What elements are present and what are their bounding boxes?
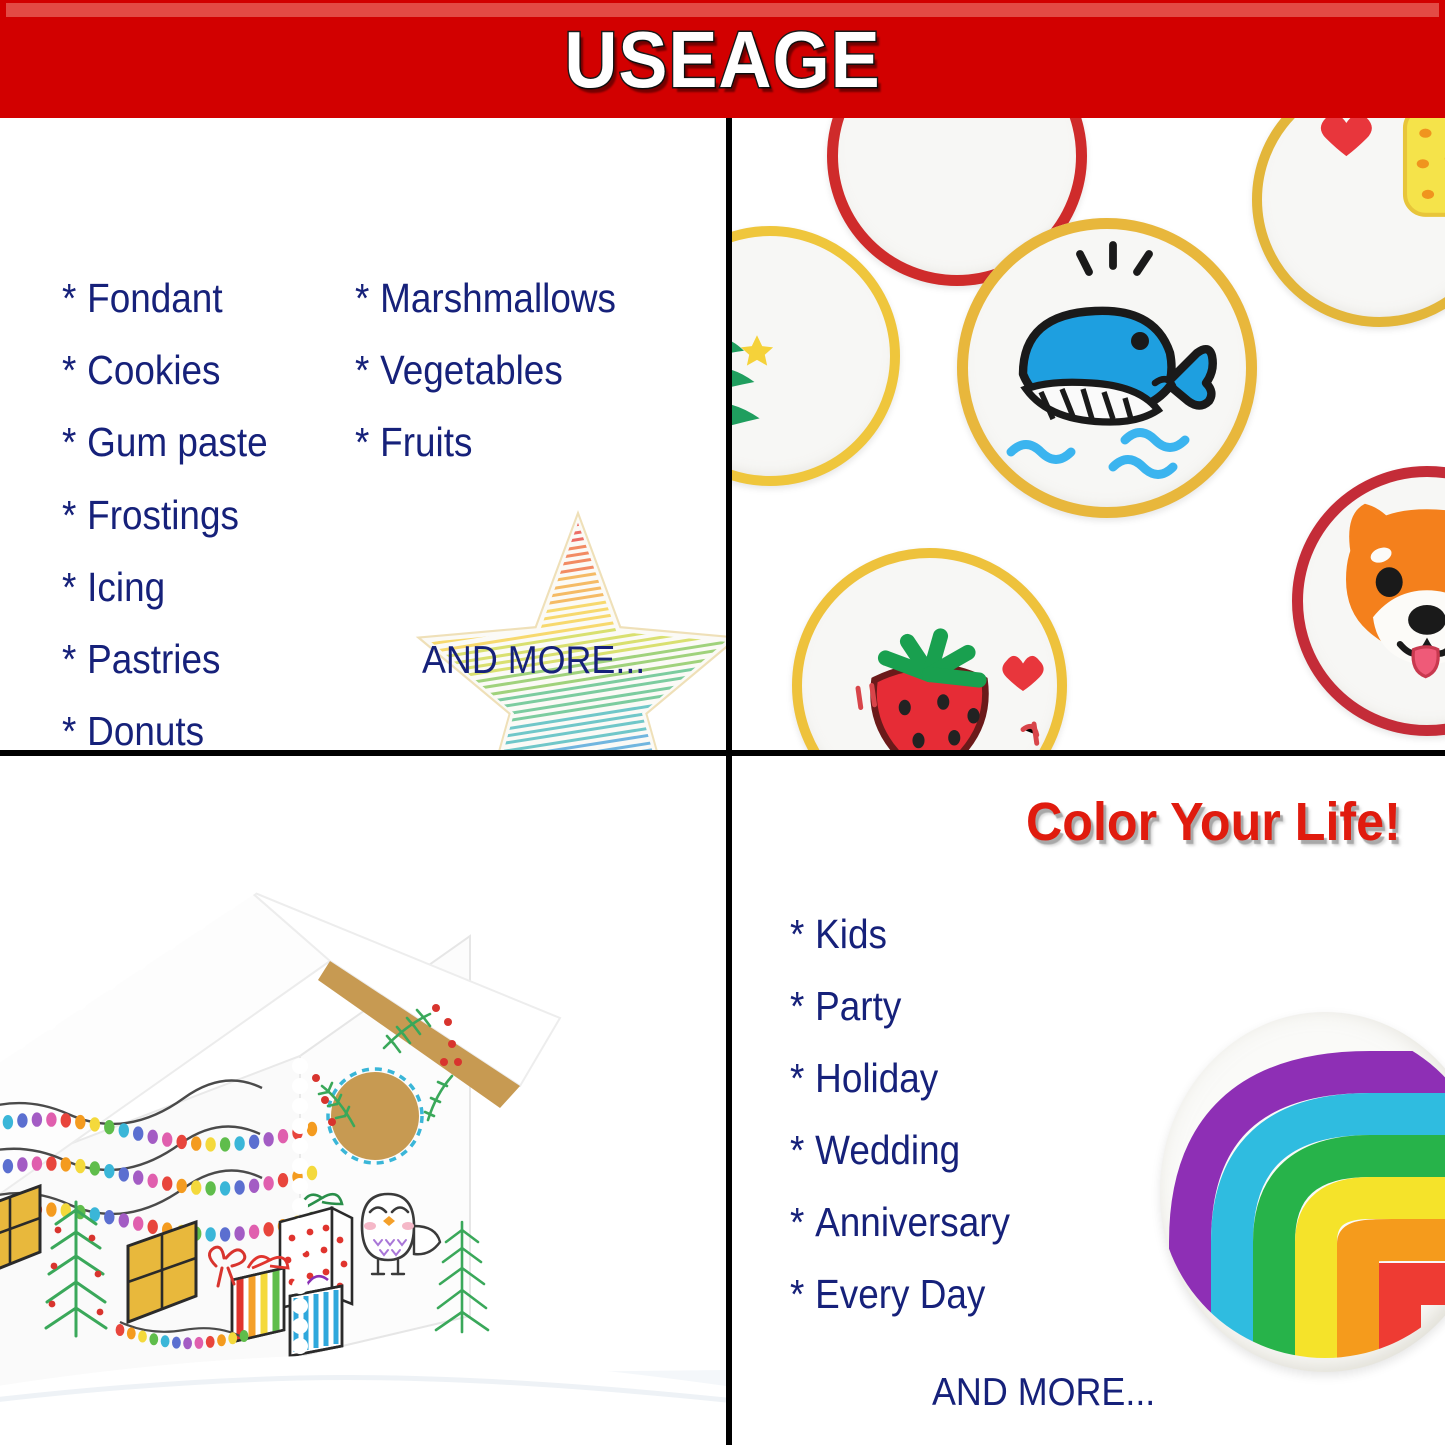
roof-light-bulb <box>148 1220 158 1234</box>
roof-light-bulb <box>220 1137 230 1151</box>
roof-light-bulb <box>263 1176 273 1190</box>
corner-icing-bead <box>292 1058 308 1354</box>
star-stripe <box>388 686 726 749</box>
list-item: *Frostings <box>62 493 239 537</box>
star-stripe <box>388 508 726 571</box>
roof-light-bulb <box>104 1120 114 1134</box>
roof-light-bulb <box>32 1112 42 1126</box>
panel-decorated-cookies: H <box>732 118 1445 750</box>
roof-light-bulb <box>191 1136 201 1150</box>
roof-light-bulb <box>205 1137 215 1151</box>
side-light-bulb <box>206 1336 215 1348</box>
usage-infographic: USEAGE *Fondant *Cookies *Gum paste *Fro… <box>0 0 1445 1445</box>
bullet-star: * <box>355 419 369 465</box>
roof-light-bulb <box>234 1136 244 1150</box>
bullet-star: * <box>62 347 76 393</box>
side-light-bulb <box>217 1334 226 1346</box>
list-item: *Gum paste <box>62 420 268 464</box>
roof-light-bulb <box>90 1161 100 1175</box>
bullet-star: * <box>790 983 804 1029</box>
roof-light-bulb <box>177 1135 187 1149</box>
bullet-star: * <box>62 636 76 682</box>
roof-light-bulb <box>191 1180 201 1194</box>
cookie-motif-whale <box>957 218 1257 518</box>
roof-light-bulb <box>278 1129 288 1143</box>
bullet-star: * <box>62 419 76 465</box>
bullet-star: * <box>62 708 76 750</box>
roof-light-bulb <box>46 1156 56 1170</box>
roof-light-bulb <box>119 1167 129 1181</box>
star-stripe <box>388 501 726 564</box>
side-light-bulb <box>149 1333 158 1345</box>
list-item-label: Fondant <box>87 275 222 321</box>
side-light-bulb <box>161 1335 170 1347</box>
roof-light-bulb <box>75 1159 85 1173</box>
roof-light-bulb <box>307 1122 317 1136</box>
star-stripe <box>388 530 726 593</box>
cookie-pineapple <box>1252 118 1445 327</box>
bullet-star: * <box>355 275 369 321</box>
roof-light-bulb <box>104 1164 114 1178</box>
list-item: *Kids <box>790 912 887 956</box>
cookie-whale <box>957 218 1257 518</box>
roof-light-bulb <box>133 1170 143 1184</box>
roof-light-bulb <box>263 1132 273 1146</box>
roof-light-bulb <box>75 1115 85 1129</box>
cookie-motif-shiba: H <box>1292 466 1445 736</box>
rainbow-arc-cookie <box>1160 1012 1445 1372</box>
page-title: USEAGE <box>58 14 1387 106</box>
roof-light-bulb <box>133 1126 143 1140</box>
star-stripe <box>388 552 726 615</box>
roof-light-bulb <box>205 1181 215 1195</box>
list-item: *Cookies <box>62 348 220 392</box>
roof-light-bulb <box>17 1113 27 1127</box>
list-item-label: Wedding <box>815 1127 960 1173</box>
list-item: *Fruits <box>355 420 472 464</box>
roof-light-bulb <box>90 1117 100 1131</box>
usage-and-more-label: AND MORE... <box>422 640 645 682</box>
roof-light-bulb <box>205 1227 215 1241</box>
side-light-bulb <box>228 1332 237 1344</box>
roof-light-bulb <box>278 1173 288 1187</box>
roof-light-bulb <box>162 1176 172 1190</box>
list-item-label: Cookies <box>87 347 220 393</box>
list-item-label: Frostings <box>87 492 239 538</box>
list-item-label: Donuts <box>87 708 204 750</box>
star-stripe <box>388 575 726 638</box>
list-item-label: Vegetables <box>380 347 563 393</box>
bullet-star: * <box>62 564 76 610</box>
side-light-bulb <box>240 1330 249 1342</box>
list-item-label: Party <box>815 983 901 1029</box>
roof-light-bulb <box>61 1113 71 1127</box>
panel-gingerbread-house <box>0 756 726 1445</box>
bullet-star: * <box>355 347 369 393</box>
bullet-star: * <box>790 1271 804 1317</box>
roof-light-bulb <box>234 1226 244 1240</box>
list-item: *Wedding <box>790 1128 960 1172</box>
list-item-label: Marshmallows <box>380 275 616 321</box>
bullet-star: * <box>790 1055 804 1101</box>
bullet-star: * <box>62 275 76 321</box>
list-item: *Donuts <box>62 709 204 750</box>
list-item: *Every Day <box>790 1272 985 1316</box>
cookie-motif-tree <box>732 226 900 486</box>
slogan-color-your-life: Color Your Life! <box>1026 793 1401 851</box>
rainbow-striped-star-cookie <box>418 516 726 750</box>
panel-usage-list: *Fondant *Cookies *Gum paste *Frostings … <box>0 118 726 750</box>
roof-light-bulb <box>148 1174 158 1188</box>
bullet-star: * <box>790 1199 804 1245</box>
star-stripe <box>388 493 726 556</box>
cookie-shiba-dog: H <box>1292 466 1445 736</box>
bullet-star: * <box>790 911 804 957</box>
side-light-bulb <box>195 1337 204 1349</box>
roof-light-bulb <box>46 1112 56 1126</box>
list-item-label: Gum paste <box>87 419 267 465</box>
list-item-label: Icing <box>87 564 165 610</box>
list-item-label: Holiday <box>815 1055 938 1101</box>
roof-light-bulb <box>263 1222 273 1236</box>
roof-light-bulb <box>104 1210 114 1224</box>
cookie-strawberry <box>792 548 1067 750</box>
roof-light-bulb <box>148 1130 158 1144</box>
list-item: *Pastries <box>62 637 220 681</box>
cookie-motif-strawberry <box>792 548 1067 750</box>
roof-light-bulb <box>119 1123 129 1137</box>
list-item-label: Kids <box>815 911 887 957</box>
list-item-label: Anniversary <box>815 1199 1010 1245</box>
header-banner: USEAGE <box>0 0 1445 118</box>
list-item: *Marshmallows <box>355 276 616 320</box>
list-item: *Holiday <box>790 1056 938 1100</box>
list-item: *Party <box>790 984 901 1028</box>
star-stripe <box>388 486 726 549</box>
roof-light-bulb <box>249 1135 259 1149</box>
roof-light-bulb <box>61 1157 71 1171</box>
side-light-bulb <box>138 1331 147 1343</box>
list-item-label: Fruits <box>380 419 472 465</box>
roof-light-bulb <box>3 1115 13 1129</box>
list-item: *Fondant <box>62 276 223 320</box>
cookie-motif-pineapple <box>1252 118 1445 327</box>
roof-light-bulb <box>307 1166 317 1180</box>
roof-light-bulb <box>119 1213 129 1227</box>
roof-light-bulb <box>17 1157 27 1171</box>
decorated-gingerbread-house <box>0 756 726 1445</box>
roof-light-bulb <box>220 1227 230 1241</box>
roof-light-bulb <box>234 1180 244 1194</box>
list-item: *Icing <box>62 565 165 609</box>
cookie-christmas-tree <box>732 226 900 486</box>
side-light-bulb <box>116 1324 125 1336</box>
roof-light-bulb <box>3 1159 13 1173</box>
list-item-label: Every Day <box>815 1271 985 1317</box>
roof-light-bulb <box>249 1225 259 1239</box>
list-item: *Anniversary <box>790 1200 1010 1244</box>
side-light-bulb <box>183 1337 192 1349</box>
roof-light-bulb <box>32 1156 42 1170</box>
bullet-star: * <box>62 492 76 538</box>
side-light-bulb <box>172 1337 181 1349</box>
roof-light-bulb <box>177 1179 187 1193</box>
side-light-bulb <box>127 1327 136 1339</box>
list-item: *Vegetables <box>355 348 563 392</box>
life-and-more-label: AND MORE... <box>932 1372 1155 1414</box>
roof-light-bulb <box>46 1202 56 1216</box>
list-item-label: Pastries <box>87 636 220 682</box>
roof-light-bulb <box>249 1179 259 1193</box>
rainbow-arcs <box>1160 1012 1445 1372</box>
roof-light-bulb <box>162 1132 172 1146</box>
bullet-star: * <box>790 1127 804 1173</box>
roof-light-bulb <box>220 1181 230 1195</box>
roof-light-bulb <box>133 1216 143 1230</box>
